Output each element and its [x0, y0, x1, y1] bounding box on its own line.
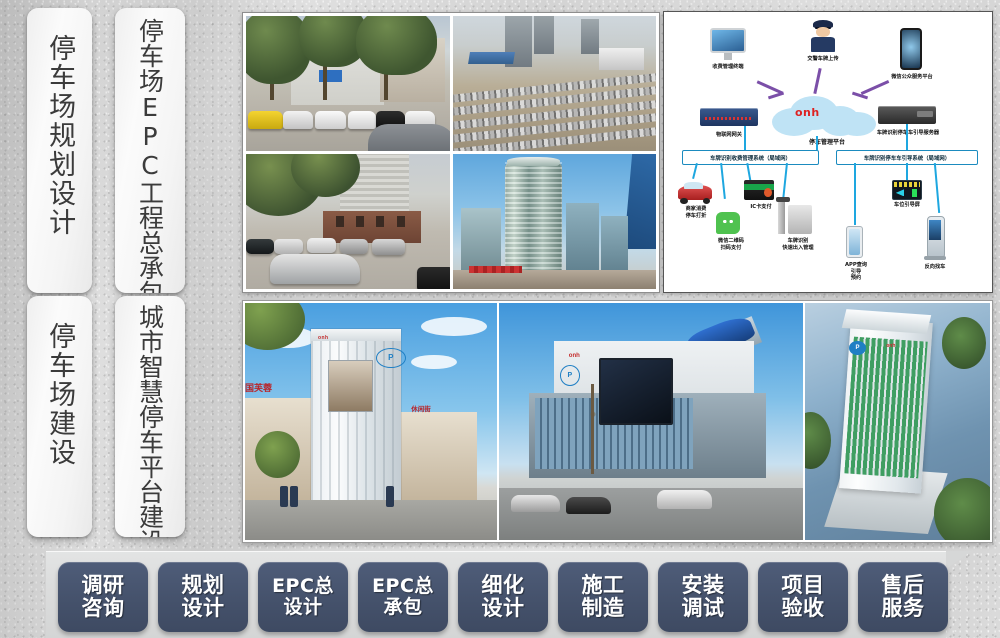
red-banners — [469, 266, 522, 273]
link-line — [906, 124, 908, 150]
sidebar-card-label: 停车场EPC工程总承包 — [136, 8, 165, 293]
photo-parking-lot-brick-building — [246, 154, 450, 289]
render-parking-garage-center: onh P — [499, 303, 803, 540]
step-line-1: 售后 — [882, 574, 925, 597]
step-planning-design[interactable]: 规划 设计 — [158, 562, 248, 632]
photo-collage-panel — [242, 12, 660, 293]
tower-shape — [581, 19, 599, 54]
parked-car — [417, 267, 450, 289]
app-query-phone-icon — [846, 226, 863, 258]
step-after-sales-service[interactable]: 售后 服务 — [858, 562, 948, 632]
render-parking-tower-aerial-right: onh P — [805, 303, 990, 540]
sidebar-card-label: 停车场规划设计 — [44, 8, 75, 237]
step-epc-general-design[interactable]: EPC总 设计 — [258, 562, 348, 632]
step-line-2: 设计 — [182, 597, 225, 620]
storefront-sign-1: 国芙蓉 — [245, 381, 272, 394]
window-shape — [376, 216, 384, 227]
window-shape — [336, 216, 344, 227]
plate-recognition-gate-label: 车牌识别 快速出入管理 — [770, 238, 826, 251]
iot-gateway-router-icon — [700, 108, 758, 126]
step-line-1: 调研 — [82, 574, 125, 597]
glass-tower-right — [623, 154, 656, 249]
step-construction-manufacturing[interactable]: 施工 制造 — [558, 562, 648, 632]
ic-card-label: IC卡支付 — [740, 204, 782, 211]
step-line-1: EPC总 — [272, 576, 334, 597]
greenery — [805, 412, 831, 469]
parked-car — [566, 497, 612, 514]
sidebar-card-parking-lot-construction[interactable]: 停车场建设 — [27, 296, 92, 537]
step-line-1: 规划 — [182, 574, 225, 597]
greenery — [934, 478, 990, 540]
green-facade-stripes — [844, 336, 928, 478]
brand-logo: onh — [886, 343, 895, 349]
sidebar-card-parking-lot-planning-design[interactable]: 停车场规划设计 — [27, 8, 92, 293]
traffic-police-label: 交警车牌上传 — [792, 56, 854, 63]
step-line-1: 细化 — [482, 574, 525, 597]
step-line-2: 承包 — [383, 597, 422, 618]
parking-guidance-screen-label: 车位引导屏 — [878, 202, 936, 209]
step-line-1: 安装 — [682, 574, 725, 597]
render-parking-tower-left: onh P 国芙蓉 休闲街 — [245, 303, 497, 540]
step-line-2: 制造 — [582, 597, 625, 620]
brand-logo: onh — [569, 353, 580, 359]
link-line — [816, 136, 818, 150]
platform-brand-logo: onh — [795, 106, 820, 119]
step-line-2: 服务 — [882, 597, 925, 620]
window-shape — [356, 216, 364, 227]
pedestrian — [290, 486, 298, 507]
merchant-discount-label: 商家消费 停车打折 — [672, 206, 720, 219]
step-line-1: EPC总 — [372, 576, 434, 597]
tree-canopy — [356, 16, 437, 75]
parked-car — [248, 111, 283, 130]
parked-car — [340, 239, 368, 254]
link-line — [692, 163, 698, 179]
iot-gateway-label: 物联网网关 — [700, 132, 758, 139]
bolt-connector — [861, 80, 890, 95]
foreground-car — [270, 254, 360, 284]
guidance-server-label: 车牌识别停车车引导服务器 — [868, 130, 948, 137]
step-line-1: 施工 — [582, 574, 625, 597]
pedestrian — [386, 486, 394, 507]
sidebar-card-parking-lot-epc-general-contracting[interactable]: 停车场EPC工程总承包 — [115, 8, 185, 293]
toll-terminal-monitor-icon — [710, 28, 746, 60]
brand-logo: onh — [318, 335, 328, 341]
pedestrian — [280, 486, 288, 507]
parked-car — [657, 490, 712, 509]
link-line — [782, 163, 788, 201]
bolt-connector — [813, 68, 821, 94]
greenery — [942, 317, 986, 369]
sidebar-card-city-smart-parking-platform-construction[interactable]: 城市智慧停车平台建设 — [115, 296, 185, 537]
step-line-1: 项目 — [782, 574, 825, 597]
link-line — [854, 163, 856, 225]
parked-car — [274, 239, 302, 254]
photo-surface-parking-street — [246, 16, 450, 151]
cloud-shape — [411, 355, 456, 369]
cloud-label: 停车管理平台 — [782, 139, 872, 147]
step-line-2: 调试 — [682, 597, 725, 620]
step-research-consulting[interactable]: 调研 咨询 — [58, 562, 148, 632]
step-detailed-design[interactable]: 细化 设计 — [458, 562, 548, 632]
wechat-qr-label: 微信二维码 扫码支付 — [706, 238, 756, 251]
step-line-2: 设计 — [283, 597, 322, 618]
parked-car — [283, 111, 314, 130]
reverse-car-finding-kiosk-icon — [924, 216, 946, 260]
billboard — [328, 360, 373, 412]
storefront-sign-2: 休闲街 — [411, 403, 431, 413]
step-line-2: 咨询 — [82, 597, 125, 620]
step-installation-commissioning[interactable]: 安装 调试 — [658, 562, 748, 632]
ic-card-icon — [744, 180, 774, 200]
parked-car — [315, 111, 346, 130]
parking-p-icon: P — [376, 348, 406, 368]
parking-platform-network-diagram: onh 停车管理平台 收费管理终端 交警车牌上传 微信公众服务平台 物联网网关 … — [663, 11, 993, 293]
tower-cap — [507, 157, 560, 166]
sidebar-card-label: 城市智慧停车平台建设 — [136, 296, 165, 537]
photo-aerial-city-parking-lot — [453, 16, 657, 151]
parked-car — [307, 238, 335, 253]
cloud-shape — [421, 317, 487, 336]
parked-car — [511, 495, 560, 512]
plate-recognition-gate-icon — [778, 202, 812, 234]
system-bar-label: 车牌识别停车车引导系统（局域网） — [864, 154, 950, 162]
plate-recognition-toll-system-bar[interactable]: 车牌识别收费管理系统（局域网） — [682, 150, 819, 165]
tower-shape — [534, 16, 554, 54]
blue-roof-shape — [468, 52, 515, 64]
ground-strip — [453, 270, 657, 289]
link-line — [720, 163, 726, 199]
bare-tree — [572, 384, 615, 474]
step-line-2: 验收 — [782, 597, 825, 620]
reverse-car-finding-label: 反向找车 — [912, 264, 958, 271]
step-project-acceptance[interactable]: 项目 验收 — [758, 562, 848, 632]
window-shape — [397, 216, 405, 227]
parking-p-icon: P — [849, 341, 866, 355]
parked-car — [348, 111, 376, 130]
foreground-car — [368, 124, 449, 151]
toll-terminal-label: 收费管理终端 — [698, 64, 758, 71]
traffic-police-icon — [810, 20, 836, 52]
process-steps-row: 调研 咨询 规划 设计 EPC总 设计 EPC总 承包 细化 设计 施工 制造 … — [58, 559, 948, 635]
step-epc-general-contracting[interactable]: EPC总 承包 — [358, 562, 448, 632]
side-building — [601, 216, 627, 278]
low-building — [401, 412, 477, 502]
side-building — [566, 203, 599, 279]
parked-car — [372, 239, 405, 255]
parked-car — [246, 239, 274, 254]
parking-guidance-screen-icon — [892, 180, 922, 200]
system-bar-label: 车牌识别收费管理系统（局域网） — [710, 154, 791, 162]
photo-glass-office-tower — [453, 154, 657, 289]
white-building-shape — [599, 48, 644, 70]
step-line-2: 设计 — [482, 597, 525, 620]
main-tower — [505, 162, 562, 275]
link-line — [744, 126, 746, 150]
merchant-discount-car-icon — [678, 178, 712, 204]
guidance-server-icon — [878, 106, 936, 124]
parking-p-icon: P — [560, 365, 580, 386]
sidebar-card-label: 停车场建设 — [44, 296, 75, 467]
wechat-phone-icon — [900, 28, 922, 70]
link-line — [906, 163, 908, 181]
architectural-render-panel: onh P 国芙蓉 休闲街 onh P onh P — [242, 300, 993, 543]
app-query-label: APP查询 引导 预约 — [830, 262, 882, 282]
cloud-shape — [772, 96, 876, 136]
wechat-qr-icon — [716, 212, 740, 234]
